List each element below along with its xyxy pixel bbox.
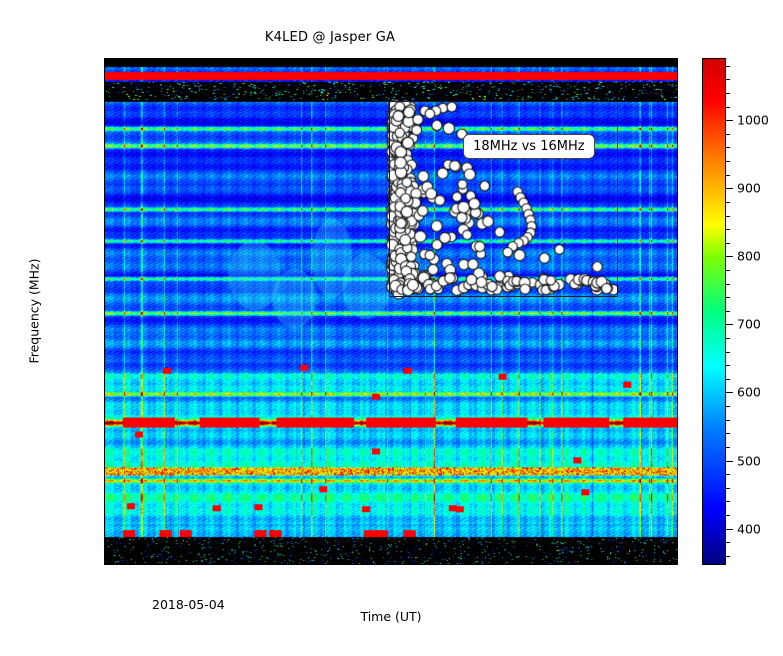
- colorbar-tick-minor: [725, 420, 730, 421]
- x-tick-minor: [403, 564, 404, 565]
- colorbar-tick-minor: [725, 311, 730, 312]
- colorbar-tick-minor: [725, 501, 730, 502]
- y-tick-minor: [104, 485, 105, 486]
- colorbar-tick-minor: [725, 161, 730, 162]
- colorbar-tick-label: 500: [737, 453, 761, 468]
- x-tick-major: [197, 564, 198, 565]
- colorbar-tick-minor: [725, 202, 730, 203]
- x-tick-major: [610, 564, 611, 565]
- colorbar-tick-minor: [725, 243, 730, 244]
- colorbar-tick-label: 900: [737, 181, 761, 196]
- colorbar-tick: [725, 256, 733, 257]
- y-tick-major: [104, 195, 105, 196]
- date-label: 2018-05-04: [152, 597, 225, 612]
- colorbar-tick-minor: [725, 79, 730, 80]
- colorbar-tick-minor: [725, 338, 730, 339]
- inset-rectangle: [389, 101, 618, 296]
- x-tick-major: [335, 564, 336, 565]
- colorbar-tick-minor: [725, 365, 730, 366]
- x-tick-minor: [300, 564, 301, 565]
- colorbar-tick-minor: [725, 107, 730, 108]
- colorbar-tick-minor: [725, 175, 730, 176]
- colorbar-tick-label: 400: [737, 521, 761, 536]
- figure-canvas: K4LED @ Jasper GA 18MHz vs 16MHz 1618202…: [0, 0, 783, 656]
- colorbar-tick-minor: [725, 352, 730, 353]
- colorbar-tick: [725, 461, 733, 462]
- colorbar: 4005006007008009001000: [702, 58, 726, 565]
- colorbar-tick-minor: [725, 474, 730, 475]
- x-tick-minor: [369, 564, 370, 565]
- colorbar-tick-minor: [725, 379, 730, 380]
- colorbar-tick-label: 700: [737, 317, 761, 332]
- colorbar-tick-label: 800: [737, 249, 761, 264]
- x-tick-minor: [162, 564, 163, 565]
- colorbar-tick-minor: [725, 556, 730, 557]
- colorbar-tick-minor: [725, 270, 730, 271]
- colorbar-tick: [725, 120, 733, 121]
- colorbar-tick-minor: [725, 515, 730, 516]
- colorbar-tick-minor: [725, 297, 730, 298]
- x-tick-minor: [438, 564, 439, 565]
- x-tick-minor: [231, 564, 232, 565]
- y-tick-minor: [104, 253, 105, 254]
- colorbar-tick-minor: [725, 229, 730, 230]
- colorbar-tick-minor: [725, 147, 730, 148]
- annotation-label: 18MHz vs 16MHz: [463, 134, 594, 159]
- x-tick-minor: [507, 564, 508, 565]
- x-tick-minor: [266, 564, 267, 565]
- colorbar-tick-minor: [725, 542, 730, 543]
- colorbar-tick-label: 1000: [737, 113, 769, 128]
- x-tick-minor: [128, 564, 129, 565]
- colorbar-tick: [725, 188, 733, 189]
- y-tick-major: [104, 311, 105, 312]
- x-tick-minor: [645, 564, 646, 565]
- colorbar-tick-minor: [725, 66, 730, 67]
- y-tick-major: [104, 427, 105, 428]
- y-tick-major: [104, 79, 105, 80]
- y-tick-minor: [104, 137, 105, 138]
- colorbar-tick-minor: [725, 216, 730, 217]
- colorbar-tick: [725, 529, 733, 530]
- y-axis-title: Frequency (MHz): [27, 258, 42, 363]
- y-tick-minor: [104, 369, 105, 370]
- colorbar-tick-minor: [725, 284, 730, 285]
- x-axis-title: Time (UT): [360, 609, 421, 624]
- x-tick-minor: [541, 564, 542, 565]
- colorbar-tick-minor: [725, 134, 730, 135]
- figure-title: K4LED @ Jasper GA: [0, 30, 660, 45]
- colorbar-tick-minor: [725, 93, 730, 94]
- spectrogram-axes: 18MHz vs 16MHz 161820222401:5501:5601:57…: [104, 58, 678, 565]
- colorbar-tick-minor: [725, 406, 730, 407]
- x-tick-minor: [576, 564, 577, 565]
- y-tick-major: [104, 543, 105, 544]
- colorbar-tick: [725, 324, 733, 325]
- colorbar-tick-minor: [725, 433, 730, 434]
- colorbar-tick-minor: [725, 447, 730, 448]
- x-tick-major: [472, 564, 473, 565]
- colorbar-tick-label: 600: [737, 385, 761, 400]
- colorbar-tick: [725, 392, 733, 393]
- colorbar-tick-minor: [725, 488, 730, 489]
